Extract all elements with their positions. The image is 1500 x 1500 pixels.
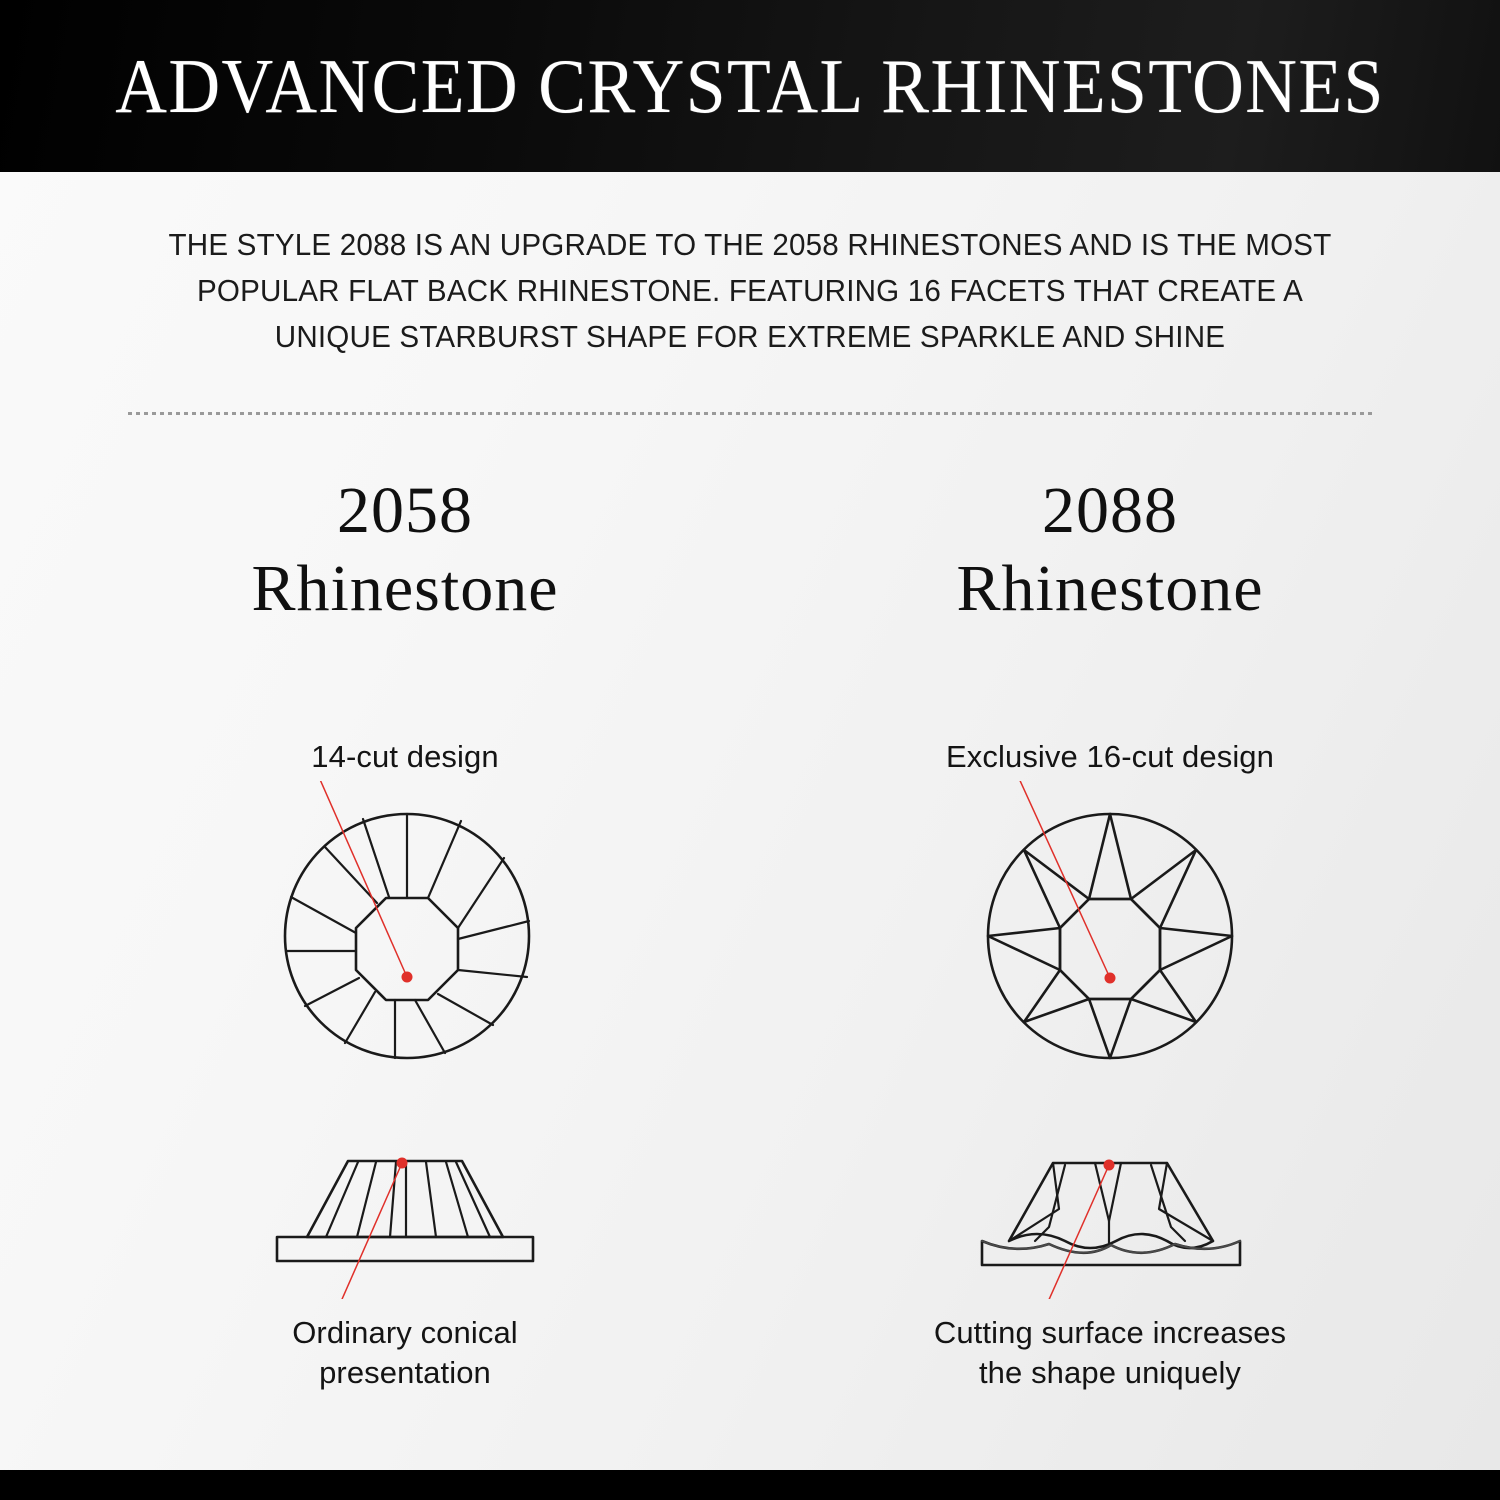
infographic-page: ADVANCED CRYSTAL RHINESTONES THE STYLE 2… xyxy=(0,0,1500,1500)
column-2088: 2088 Rhinestone Exclusive 16-cut design xyxy=(760,470,1460,1400)
side-view-caption-2088-line1: Cutting surface increases xyxy=(934,1315,1286,1350)
column-title-2088: 2088 Rhinestone xyxy=(760,470,1460,630)
column-title-word: Rhinestone xyxy=(55,548,755,630)
gem-cone-facets-2058 xyxy=(326,1162,490,1237)
top-view-label-2088: Exclusive 16-cut design xyxy=(760,737,1460,777)
gem-star-points-2088 xyxy=(988,814,1232,1058)
dotted-divider xyxy=(128,412,1374,415)
gem-side-view-2058-svg xyxy=(240,1149,570,1299)
gem-side-view-2088-svg xyxy=(945,1149,1275,1299)
page-title: ADVANCED CRYSTAL RHINESTONES xyxy=(53,0,1448,172)
column-2058: 2058 Rhinestone 14-cut design xyxy=(55,470,755,1400)
gem-top-view-2058-svg xyxy=(255,781,555,1081)
side-view-caption-2058-line1: Ordinary conical xyxy=(292,1315,518,1350)
side-view-figure-2058 xyxy=(55,1149,755,1299)
gem-crown-facets-2088 xyxy=(1009,1163,1213,1245)
column-title-word: Rhinestone xyxy=(760,548,1460,630)
leader-line-2058-top xyxy=(311,781,413,983)
side-view-caption-2088-line2: the shape uniquely xyxy=(979,1355,1241,1390)
side-view-caption-2058-line2: presentation xyxy=(319,1355,491,1390)
column-title-number: 2058 xyxy=(55,470,755,552)
leader-line-2088-top xyxy=(1012,781,1116,984)
top-view-figure-2088 xyxy=(760,781,1460,1081)
side-view-caption-2088: Cutting surface increases the shape uniq… xyxy=(760,1313,1460,1393)
column-title-number: 2088 xyxy=(760,470,1460,552)
header-banner: ADVANCED CRYSTAL RHINESTONES xyxy=(0,0,1500,172)
side-view-caption-2058: Ordinary conical presentation xyxy=(55,1313,755,1393)
intro-paragraph: THE STYLE 2088 IS AN UPGRADE TO THE 2058… xyxy=(139,222,1361,360)
gem-top-view-2088-svg xyxy=(960,781,1260,1081)
top-view-label-2058: 14-cut design xyxy=(55,737,755,777)
leader-line-2058-side xyxy=(328,1158,408,1300)
top-view-figure-2058 xyxy=(55,781,755,1081)
footer-bar xyxy=(0,1470,1500,1500)
gem-table-octagon-2058 xyxy=(356,898,458,1000)
side-view-figure-2088 xyxy=(760,1149,1460,1299)
column-title-2058: 2058 Rhinestone xyxy=(55,470,755,630)
